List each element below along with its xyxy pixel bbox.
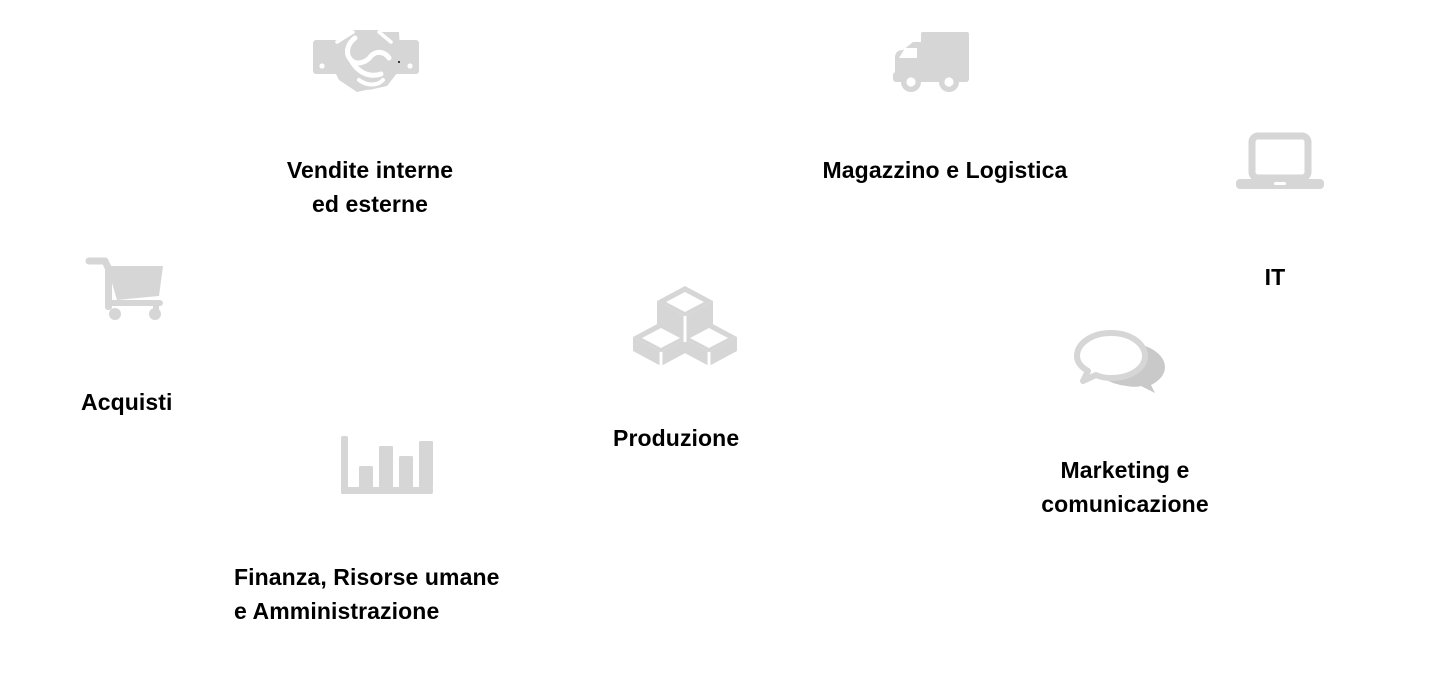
laptop-icon [1234,134,1326,192]
handshake-icon [313,28,419,96]
boxes-icon [634,284,736,368]
node-marketing-label: Marketing e comunicazione [1000,453,1250,521]
node-produzione-label: Produzione [613,421,843,455]
diagram-canvas: Vendite interne ed esterne Magazzino e L… [0,0,1441,682]
speech-bubbles-icon [1077,331,1167,393]
shopping-cart-icon [87,256,169,320]
node-finanza-label: Finanza, Risorse umane e Amministrazione [234,560,634,628]
delivery-truck-icon [891,28,971,96]
node-vendite-label: Vendite interne ed esterne [240,153,500,221]
image-artifact-speck [398,61,400,63]
node-magazzino-label: Magazzino e Logistica [790,153,1100,187]
node-it-label: IT [1210,260,1340,294]
bar-chart-icon [341,436,433,498]
node-acquisti-label: Acquisti [81,385,301,419]
